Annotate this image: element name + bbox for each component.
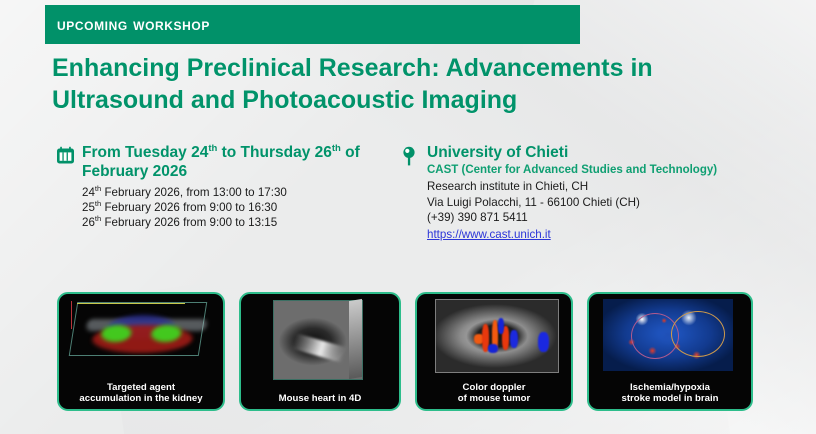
session-line: 25th February 2026 from 9:00 to 16:30 (82, 200, 401, 215)
card-mouse-heart-4d[interactable]: Mouse heart in 4D (239, 292, 401, 411)
doppler-flow-blue (498, 318, 504, 334)
date-block: From Tuesday 24th to Thursday 26th of Fe… (56, 144, 401, 243)
location-line: Via Luigi Polacchi, 11 - 66100 Chieti (C… (427, 195, 751, 210)
card-caption-line-1: Color doppler (421, 382, 567, 393)
session-text: February 2026, from 13:00 to 17:30 (101, 186, 287, 199)
card-caption-line-2: of mouse tumor (421, 393, 567, 404)
doppler-flow-blue (510, 330, 518, 348)
date-heading-sup2: th (332, 143, 341, 154)
doppler-flow-blue (538, 332, 549, 352)
heart-side-face (349, 299, 362, 379)
session-day: 24 (82, 186, 95, 199)
location-line: (+39) 390 871 5411 (427, 210, 751, 225)
upcoming-workshop-banner: Upcoming Workshop (45, 5, 580, 44)
date-heading-part1: From Tuesday 24 (82, 144, 208, 161)
location-subtitle: CAST (Center for Advanced Studies and Te… (427, 164, 751, 178)
date-heading-sup1: th (208, 143, 217, 154)
session-day: 25 (82, 201, 95, 214)
card-caption: Color doppler of mouse tumor (417, 382, 571, 409)
date-body: From Tuesday 24th to Thursday 26th of Fe… (82, 144, 401, 243)
mouse-heart-image (241, 294, 399, 393)
page-title: Enhancing Preclinical Research: Advancem… (52, 52, 752, 116)
location-body: University of Chieti CAST (Center for Ad… (427, 144, 751, 243)
session-day: 26 (82, 216, 95, 229)
banner-label: Upcoming Workshop (45, 15, 210, 35)
card-caption-line-1: Ischemia/hypoxia (593, 382, 747, 393)
location-pin-icon (401, 144, 427, 243)
kidney-bounding-box (69, 302, 208, 356)
kidney-top-ruler (77, 303, 185, 304)
session-line: 26th February 2026 from 9:00 to 13:15 (82, 215, 401, 230)
session-text: February 2026 from 9:00 to 13:15 (101, 216, 277, 229)
location-line: Research institute in Chieti, CH (427, 179, 751, 194)
brain-photoacoustic-map (603, 299, 733, 371)
thumbnail-card-row: Targeted agent accumulation in the kidne… (57, 292, 757, 411)
card-color-doppler-tumor[interactable]: Color doppler of mouse tumor (415, 292, 573, 411)
session-line: 24th February 2026, from 13:00 to 17:30 (82, 185, 401, 200)
location-block: University of Chieti CAST (Center for Ad… (401, 144, 751, 243)
calendar-icon (56, 144, 82, 243)
slide-canvas: Upcoming Workshop Enhancing Preclinical … (0, 0, 816, 434)
card-caption-line-2: stroke model in brain (593, 393, 747, 404)
card-targeted-agent-kidney[interactable]: Targeted agent accumulation in the kidne… (57, 292, 225, 411)
card-caption: Ischemia/hypoxia stroke model in brain (589, 382, 751, 409)
date-heading: From Tuesday 24th to Thursday 26th of Fe… (82, 144, 401, 182)
session-list: 24th February 2026, from 13:00 to 17:30 … (82, 185, 401, 231)
card-caption-line-1: Mouse heart in 4D (245, 393, 395, 404)
location-title: University of Chieti (427, 144, 751, 163)
info-row: From Tuesday 24th to Thursday 26th of Fe… (56, 144, 766, 243)
kidney-axis-line (71, 301, 72, 329)
kidney-volume-image (59, 294, 223, 382)
card-caption-line-2: accumulation in the kidney (63, 393, 219, 404)
card-caption: Targeted agent accumulation in the kidne… (59, 382, 223, 409)
cast-website-link[interactable]: https://www.cast.unich.it (427, 227, 551, 242)
card-caption-line-1: Targeted agent (63, 382, 219, 393)
brain-roi-right (671, 311, 725, 357)
color-doppler-image (417, 294, 571, 382)
page-title-line-2: Ultrasound and Photoacoustic Imaging (52, 84, 752, 116)
doppler-roi-frame (435, 299, 559, 373)
card-ischemia-hypoxia-brain[interactable]: Ischemia/hypoxia stroke model in brain (587, 292, 753, 411)
brain-hypoxia-image (589, 294, 751, 382)
page-title-line-1: Enhancing Preclinical Research: Advancem… (52, 52, 752, 84)
session-text: February 2026 from 9:00 to 16:30 (101, 201, 277, 214)
doppler-flow-blue (488, 344, 498, 353)
card-caption: Mouse heart in 4D (241, 393, 399, 409)
date-heading-part2: to Thursday 26 (217, 144, 332, 161)
